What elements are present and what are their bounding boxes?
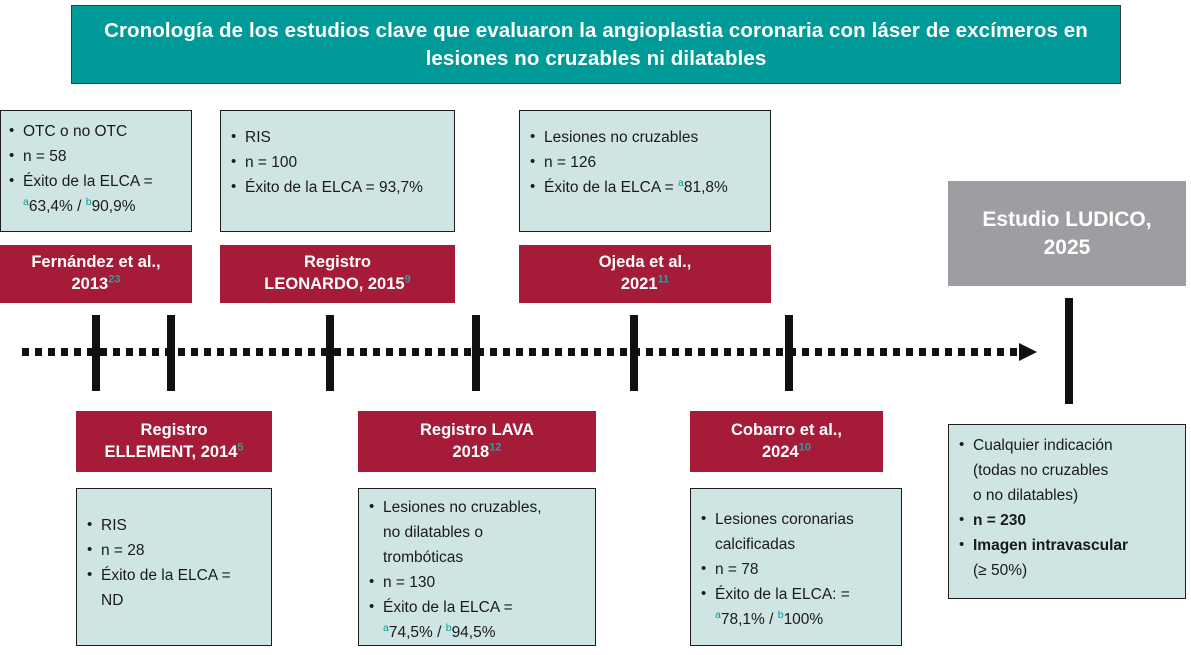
list-item: RIS <box>85 515 263 537</box>
list-item: Lesiones no cruzables, <box>367 497 587 519</box>
reference-number: 9 <box>405 274 411 286</box>
ludico-title: Estudio LUDICO, 2025 <box>982 206 1151 261</box>
figure-title-banner: Cronología de los estudios clave que eva… <box>71 5 1121 84</box>
detail-text: n = 58 <box>23 148 67 165</box>
ludico-title-line1: Estudio LUDICO, <box>982 208 1151 231</box>
study-label-leonardo: Registro LEONARDO, 20159 <box>220 245 455 303</box>
detail-text: n = 28 <box>101 542 145 559</box>
study-name: Registro LAVA <box>420 421 534 439</box>
ludico-title-line2: 2025 <box>1044 236 1091 259</box>
list-item-continuation: a74,5% / b94,5% <box>367 622 587 644</box>
label-text: Registro LAVA 201812 <box>420 420 534 464</box>
timeline-figure: Cronología de los estudios clave que eva… <box>0 0 1191 655</box>
label-text: Registro LEONARDO, 20159 <box>264 252 410 296</box>
info-box-cobarro: Lesiones coronarias calcificadas n = 78 … <box>690 488 902 646</box>
list-item-continuation: trombóticas <box>367 547 587 569</box>
separator: / <box>73 198 86 215</box>
list-item-continuation: calcificadas <box>699 534 893 556</box>
detail-text: no dilatables o <box>383 524 483 541</box>
list-item: Lesiones coronarias <box>699 509 893 531</box>
info-box-ellement: RIS n = 28 Éxito de la ELCA = ND <box>76 488 272 646</box>
reference-number: 5 <box>237 441 243 453</box>
list-item: Lesiones no cruzables <box>528 127 762 149</box>
list-item: n = 230 <box>957 510 1177 532</box>
study-year: 2018 <box>453 443 490 461</box>
detail-text: n = 100 <box>245 154 297 171</box>
detail-text: n = 126 <box>544 154 596 171</box>
value-a: 81,8% <box>684 179 728 196</box>
page-title: Cronología de los estudios clave que eva… <box>72 17 1120 72</box>
detail-list: Lesiones coronarias calcificadas n = 78 … <box>699 509 893 631</box>
value-a: 78,1% <box>721 611 765 628</box>
list-item: Cualquier indicación <box>957 435 1177 457</box>
list-item: n = 126 <box>528 152 762 174</box>
study-name: Ojeda et al., <box>599 253 692 271</box>
study-year: 2021 <box>621 275 658 293</box>
detail-text: Lesiones no cruzables <box>544 129 698 146</box>
list-item: RIS <box>229 127 446 149</box>
list-item: OTC o no OTC <box>7 121 183 143</box>
list-item-continuation: a63,4% / b90,9% <box>7 196 183 218</box>
timeline-tick-6 <box>785 315 793 391</box>
timeline-tick-1 <box>92 315 100 391</box>
reference-number: 23 <box>108 274 120 286</box>
detail-text: Éxito de la ELCA = <box>101 567 231 584</box>
detail-text: (todas no cruzables <box>973 462 1108 479</box>
study-year: 2024 <box>762 443 799 461</box>
study-year: 2013 <box>72 275 109 293</box>
timeline-arrowhead <box>1019 343 1037 361</box>
value-b: 90,9% <box>92 198 136 215</box>
study-label-cobarro: Cobarro et al., 202410 <box>690 411 883 472</box>
detail-text: OTC o no OTC <box>23 123 127 140</box>
info-box-leonardo: RIS n = 100 Éxito de la ELCA = 93,7% <box>220 110 455 232</box>
study-label-ojeda: Ojeda et al., 202111 <box>519 245 771 303</box>
list-item-continuation: o no dilatables) <box>957 485 1177 507</box>
list-item-continuation: ND <box>85 590 263 612</box>
list-item: Éxito de la ELCA = <box>7 171 183 193</box>
detail-text: n = 78 <box>715 561 759 578</box>
info-box-ludico: Cualquier indicación (todas no cruzables… <box>948 424 1186 599</box>
study-label-fernandez: Fernández et al., 201323 <box>0 245 192 303</box>
reference-number: 11 <box>658 274 670 286</box>
list-item: n = 100 <box>229 152 446 174</box>
list-item: n = 78 <box>699 559 893 581</box>
label-text: Cobarro et al., 202410 <box>731 420 842 464</box>
separator: / <box>765 611 778 628</box>
detail-text: calcificadas <box>715 536 795 553</box>
list-item: Éxito de la ELCA: = <box>699 584 893 606</box>
value-b: 100% <box>784 611 824 628</box>
list-item-continuation: (≥ 50%) <box>957 560 1177 582</box>
list-item: n = 28 <box>85 540 263 562</box>
detail-text: Cualquier indicación <box>973 437 1113 454</box>
detail-list: Lesiones no cruzables, no dilatables o t… <box>367 497 587 644</box>
timeline-tick-5 <box>630 315 638 391</box>
list-item-continuation: no dilatables o <box>367 522 587 544</box>
detail-text-bold: Imagen intravascular <box>973 537 1128 554</box>
list-item: Éxito de la ELCA = 93,7% <box>229 177 446 199</box>
separator: / <box>433 624 446 641</box>
detail-text: trombóticas <box>383 549 463 566</box>
label-text: Registro ELLEMENT, 20145 <box>104 420 243 464</box>
list-item-continuation: a78,1% / b100% <box>699 609 893 631</box>
list-item: Imagen intravascular <box>957 535 1177 557</box>
timeline-tick-3 <box>326 315 334 391</box>
value-a: 74,5% <box>389 624 433 641</box>
detail-text: Éxito de la ELCA = <box>383 599 513 616</box>
detail-text-bold: n = 230 <box>973 512 1026 529</box>
detail-text: Éxito de la ELCA = 93,7% <box>245 179 423 196</box>
value-a: 63,4% <box>29 198 73 215</box>
list-item: Éxito de la ELCA = <box>85 565 263 587</box>
ludico-study-box: Estudio LUDICO, 2025 <box>948 181 1186 286</box>
study-name: Registro <box>304 253 371 271</box>
detail-list: RIS n = 100 Éxito de la ELCA = 93,7% <box>229 127 446 199</box>
study-name: Fernández et al., <box>31 253 160 271</box>
detail-list: OTC o no OTC n = 58 Éxito de la ELCA = a… <box>7 121 183 218</box>
list-item: Éxito de la ELCA = <box>367 597 587 619</box>
detail-text: Éxito de la ELCA: = <box>715 586 850 603</box>
study-name: Cobarro et al., <box>731 421 842 439</box>
detail-text: Lesiones no cruzables, <box>383 499 542 516</box>
detail-text: (≥ 50%) <box>973 562 1027 579</box>
study-year: ELLEMENT, 2014 <box>104 443 237 461</box>
detail-text: RIS <box>101 517 127 534</box>
study-label-lava: Registro LAVA 201812 <box>358 411 596 472</box>
reference-number: 10 <box>799 441 811 453</box>
timeline-tick-2 <box>167 315 175 391</box>
info-box-lava: Lesiones no cruzables, no dilatables o t… <box>358 488 596 646</box>
study-label-ellement: Registro ELLEMENT, 20145 <box>76 411 272 472</box>
list-item: Éxito de la ELCA = a81,8% <box>528 177 762 199</box>
list-item: n = 130 <box>367 572 587 594</box>
detail-text: ND <box>101 592 123 609</box>
study-name: Registro <box>141 421 208 439</box>
list-item-continuation: (todas no cruzables <box>957 460 1177 482</box>
reference-number: 12 <box>489 441 501 453</box>
study-year: LEONARDO, 2015 <box>264 275 404 293</box>
info-box-ojeda: Lesiones no cruzables n = 126 Éxito de l… <box>519 110 771 232</box>
list-item: n = 58 <box>7 146 183 168</box>
info-box-fernandez: OTC o no OTC n = 58 Éxito de la ELCA = a… <box>0 110 192 232</box>
detail-list: Cualquier indicación (todas no cruzables… <box>957 435 1177 582</box>
value-b: 94,5% <box>452 624 496 641</box>
detail-text: Éxito de la ELCA = <box>23 173 153 190</box>
label-text: Ojeda et al., 202111 <box>599 252 692 296</box>
detail-list: Lesiones no cruzables n = 126 Éxito de l… <box>528 127 762 199</box>
timeline-connector-ludico <box>1065 298 1073 404</box>
timeline-tick-4 <box>472 315 480 391</box>
detail-text: o no dilatables) <box>973 487 1078 504</box>
detail-text: Lesiones coronarias <box>715 511 854 528</box>
detail-list: RIS n = 28 Éxito de la ELCA = ND <box>85 515 263 612</box>
detail-text: n = 130 <box>383 574 435 591</box>
detail-text: Éxito de la ELCA = <box>544 179 678 196</box>
detail-text: RIS <box>245 129 271 146</box>
label-text: Fernández et al., 201323 <box>31 252 160 296</box>
